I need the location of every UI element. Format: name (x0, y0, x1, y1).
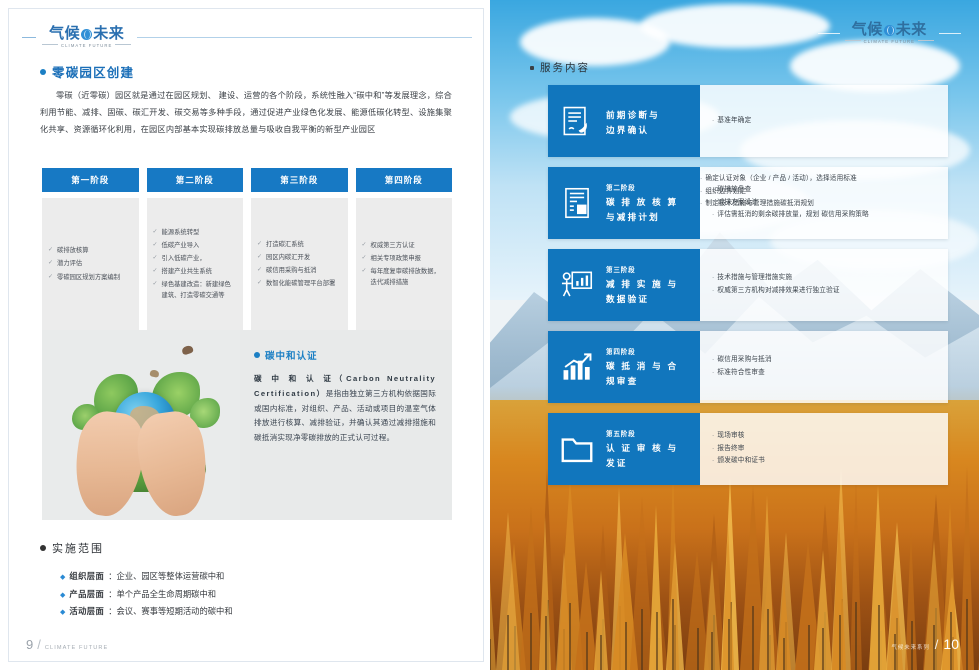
service-card-header: 第二阶段 碳 排 放 核 算 与减排计划 (548, 167, 700, 239)
stage-column: 第三阶段 ✓打造碳汇系统 ✓园区内碳汇开发 ✓碳信用采购与抵消 ✓数智化能碳管理… (251, 168, 348, 332)
logo-subtitle: CLIMATE FUTURE (61, 43, 112, 48)
service-card-item: 评估需抵消的剩余碳排放量，规划 碳信用采购策略 (712, 209, 936, 222)
stage-item: ✓低碳产业导入 (153, 240, 238, 251)
tree-trunk (641, 609, 643, 670)
certification-text-box: 碳中和认证 碳 中 和 认 证（Carbon Neutrality Certif… (240, 330, 452, 520)
scope-item-value: ：会议、赛事等短期活动的碳中和 (108, 603, 232, 620)
service-card-titles: 第二阶段 碳 排 放 核 算 与减排计划 (606, 182, 678, 224)
check-icon: ✓ (153, 227, 158, 238)
stage-body: ✓能源系统转型 ✓低碳产业导入 ✓引入低碳产业， ✓搭建产业共生系统 ✓绿色基建… (147, 198, 244, 332)
logo-rule-right (137, 37, 472, 38)
certification-title: 碳中和认证 (254, 348, 436, 362)
stage-item: ✓能源系统转型 (153, 227, 238, 238)
tree-trunk (808, 625, 810, 670)
logo-text-left: 气候 (49, 26, 80, 41)
tree-trunk (569, 603, 571, 670)
cloud-shape (640, 4, 830, 48)
diamond-bullet-icon: ◆ (60, 589, 65, 604)
service-card-overlay-items: 确定认证对象（企业 / 产品 / 活动），选择适用标准 组织边界划定 制定技术措… (700, 173, 948, 211)
globe-icon (81, 29, 92, 40)
stage-item-text: 数智化能碳管理平台部署 (266, 278, 335, 289)
logo-subtitle: CLIMATE FUTURE (864, 39, 915, 44)
service-title-text: 服务内容 (540, 60, 590, 75)
service-card-name-line2: 与减排计划 (606, 210, 678, 225)
scope-title-text: 实施范围 (52, 540, 104, 556)
logo-block: 气候 未来 CLIMATE FUTURE (845, 22, 934, 44)
logo-text-right: 未来 (93, 26, 124, 41)
check-icon: ✓ (48, 258, 53, 269)
stage-item-text: 引入低碳产业， (162, 253, 206, 264)
stage-item: ✓数智化能碳管理平台部署 (257, 278, 342, 289)
service-card-body: 碳排放盘查 减排方案设计 评估需抵消的剩余碳排放量，规划 碳信用采购策略 确定认… (700, 167, 948, 239)
check-icon: ✓ (153, 253, 158, 264)
stage-body: ✓打造碳汇系统 ✓园区内碳汇开发 ✓碳信用采购与抵消 ✓数智化能碳管理平台部署 (251, 198, 348, 332)
tree-trunk (600, 635, 602, 670)
service-card-body: 技术措施与管理措施实施 权威第三方机构对减排效果进行独立验证 (700, 249, 948, 321)
service-card-name-line2: 边界确认 (606, 123, 660, 138)
service-card-item-overlay: 组织边界划定 (700, 186, 948, 199)
service-card-titles: 第四阶段 碳 抵 消 与 合 规审查 (606, 346, 678, 388)
stage-body: ✓碳排放核算 ✓潜力评估 ✓零碳园区规划方案编制 (42, 198, 139, 332)
logo-subtitle-wrap: CLIMATE FUTURE (42, 41, 131, 48)
right-page-footer: 气候未来系列 / 10 (891, 636, 959, 652)
tree-trunk (656, 612, 658, 670)
logo-rule-left (818, 33, 840, 34)
service-card[interactable]: 第五阶段 认 证 审 核 与 发证 现场审核 报告终审 颁发碳中和证书 (548, 413, 948, 485)
left-page-logo: 气候 未来 CLIMATE FUTURE (22, 22, 472, 52)
stage-header: 第一阶段 (42, 168, 139, 192)
logo-text-left: 气候 (852, 22, 883, 37)
document-quill-icon (558, 102, 596, 140)
service-card-stage: 第四阶段 (606, 346, 678, 356)
tree-trunk (697, 628, 699, 670)
tree-trunk (966, 599, 968, 670)
check-icon: ✓ (362, 253, 367, 264)
scope-item-label: 活动层面 (69, 603, 104, 620)
service-card-header: 第四阶段 碳 抵 消 与 合 规审查 (548, 331, 700, 403)
right-page: 气候 未来 CLIMATE FUTURE 服务内容 (490, 0, 979, 670)
service-card-body: 基准年确定 (700, 85, 948, 157)
scope-item-value: ：企业、园区等整体运营碳中和 (108, 568, 224, 585)
tree-trunk (625, 622, 627, 670)
folder-icon (558, 430, 596, 468)
service-card-name-line1: 认 证 审 核 与 (606, 441, 678, 456)
section-title-text: 零碳园区创建 (52, 62, 134, 81)
check-icon: ✓ (362, 266, 367, 288)
service-card-item: 权威第三方机构对减排效果进行独立验证 (712, 285, 936, 298)
service-card-item: 现场审核 (712, 430, 936, 443)
service-card[interactable]: 前期诊断与 边界确认 基准年确定 (548, 85, 948, 157)
service-card-body: 碳信用采购与抵消 标准符合性审查 (700, 331, 948, 403)
page-number: 10 (943, 636, 959, 652)
service-card-stage: 第五阶段 (606, 428, 678, 438)
stage-item-text: 潜力评估 (57, 258, 82, 269)
right-page-logo: 气候 未来 CLIMATE FUTURE (818, 22, 961, 44)
calculator-icon (558, 184, 596, 222)
stage-item-text: 能源系统转型 (162, 227, 200, 238)
stage-item-text: 相关专项政策申报 (371, 253, 421, 264)
stage-item: ✓搭建产业共生系统 (153, 266, 238, 277)
footer-brand: CLIMATE FUTURE (45, 645, 108, 651)
check-icon: ✓ (257, 239, 262, 250)
check-icon: ✓ (153, 279, 158, 301)
service-card-name-line1: 减 排 实 施 与 (606, 277, 678, 292)
service-card[interactable]: 第二阶段 碳 排 放 核 算 与减排计划 碳排放盘查 减排方案设计 评估需抵消的… (548, 167, 948, 239)
service-card-item: 技术措施与管理措施实施 (712, 272, 936, 285)
footer-brand: 气候未来系列 (891, 643, 929, 651)
scope-item: ◆ 产品层面 ：单个产品全生命周期碳中和 (60, 586, 440, 604)
service-card[interactable]: 第四阶段 碳 抵 消 与 合 规审查 碳信用采购与抵消 标准符合性审查 (548, 331, 948, 403)
stage-header: 第四阶段 (356, 168, 453, 192)
service-card-name-line1: 碳 排 放 核 算 (606, 195, 678, 210)
diamond-bullet-icon: ◆ (60, 571, 65, 586)
stage-item-text: 搭建产业共生系统 (162, 266, 212, 277)
scope-title: 实施范围 (40, 540, 104, 556)
bullet-dot-icon (254, 352, 260, 358)
bullet-dot-icon (40, 69, 46, 75)
service-card-titles: 第五阶段 认 证 审 核 与 发证 (606, 428, 678, 470)
tree-trunk (878, 605, 880, 670)
service-card-name-line2: 数据验证 (606, 292, 678, 307)
service-card-name-line2: 规审查 (606, 374, 678, 389)
stage-table: 第一阶段 ✓碳排放核算 ✓潜力评估 ✓零碳园区规划方案编制 第二阶段 ✓能源系统… (42, 168, 452, 332)
service-card-titles: 前期诊断与 边界确认 (606, 105, 660, 137)
check-icon: ✓ (153, 266, 158, 277)
hands-holding-earth-image (42, 330, 240, 520)
service-card-name-line1: 前期诊断与 (606, 108, 660, 123)
service-card-titles: 第三阶段 减 排 实 施 与 数据验证 (606, 264, 678, 306)
service-card-header: 第五阶段 认 证 审 核 与 发证 (548, 413, 700, 485)
logo-sub-rule-left (845, 40, 861, 41)
logo-wordmark: 气候 未来 (852, 22, 927, 37)
stage-item: ✓碳信用采购与抵消 (257, 265, 342, 276)
check-icon: ✓ (257, 278, 262, 289)
tree-trunk (545, 616, 547, 670)
stage-item-text: 低碳产业导入 (162, 240, 200, 251)
stage-column: 第四阶段 ✓权威第三方认证 ✓相关专项政策申报 ✓每年度复审碳排放数据，迭代减排… (356, 168, 453, 332)
stage-item: ✓引入低碳产业， (153, 253, 238, 264)
section-title-zero-carbon-park: 零碳园区创建 (40, 62, 134, 81)
service-card-name-line1: 碳 抵 消 与 合 (606, 359, 678, 374)
stage-item: ✓权威第三方认证 (362, 240, 447, 251)
stage-item: ✓绿色基建改造：新建绿色建筑、打造零碳交通等 (153, 279, 238, 301)
section-title-service-content: 服务内容 (530, 60, 590, 75)
stage-item-text: 权威第三方认证 (371, 240, 415, 251)
stage-item: ✓碳排放核算 (48, 245, 133, 256)
tree-trunk (855, 602, 857, 670)
certification-block: 碳中和认证 碳 中 和 认 证（Carbon Neutrality Certif… (42, 330, 452, 520)
logo-text-right: 未来 (896, 22, 927, 37)
tree-trunk (752, 606, 754, 670)
stage-item: ✓打造碳汇系统 (257, 239, 342, 250)
stage-header: 第三阶段 (251, 168, 348, 192)
stage-item: ✓潜力评估 (48, 258, 133, 269)
scope-list: ◆ 组织层面 ：企业、园区等整体运营碳中和 ◆ 产品层面 ：单个产品全生命周期碳… (60, 568, 440, 621)
stage-item-text: 园区内碳汇开发 (266, 252, 310, 263)
left-page-footer: 9 / CLIMATE FUTURE (26, 637, 108, 652)
bullet-dot-icon (530, 66, 534, 70)
stage-body: ✓权威第三方认证 ✓相关专项政策申报 ✓每年度复审碳排放数据，迭代减排措施 (356, 198, 453, 332)
service-card-item: 基准年确定 (712, 115, 936, 128)
tree-trunk (711, 632, 713, 670)
logo-block: 气候 未来 CLIMATE FUTURE (42, 26, 131, 48)
tree-trunk (586, 632, 588, 670)
scope-item-label: 组织层面 (69, 568, 104, 585)
certification-title-text: 碳中和认证 (265, 348, 318, 362)
service-card-header: 前期诊断与 边界确认 (548, 85, 700, 157)
service-card-stage: 第三阶段 (606, 264, 678, 274)
service-card-item: 报告终审 (712, 443, 936, 456)
tree-trunk (507, 615, 509, 670)
scope-item-value: ：单个产品全生命周期碳中和 (108, 586, 216, 603)
logo-rule-left (22, 37, 36, 38)
logo-sub-rule-left (42, 44, 58, 45)
check-icon: ✓ (257, 252, 262, 263)
stage-item-text: 每年度复审碳排放数据，迭代减排措施 (371, 266, 446, 288)
growth-bar-chart-icon (558, 348, 596, 386)
tree-trunk (783, 638, 785, 670)
brochure-spread: 气候 未来 CLIMATE FUTURE 零碳园区创建 零碳（近零碳）园区就是通… (0, 0, 979, 670)
page-number: 9 (26, 637, 33, 652)
tree-trunk (490, 639, 491, 670)
service-card-item: 标准符合性审查 (712, 367, 936, 380)
stage-item-text: 碳信用采购与抵消 (266, 265, 316, 276)
check-icon: ✓ (153, 240, 158, 251)
check-icon: ✓ (362, 240, 367, 251)
service-card-item-overlay: 制定技术措施与管理措施碳抵消规划 (700, 198, 948, 211)
logo-sub-rule-right (918, 40, 934, 41)
tree-trunk (839, 615, 841, 670)
service-card-item-overlay: 确定认证对象（企业 / 产品 / 活动），选择适用标准 (700, 173, 948, 186)
service-card-item: 颁发碳中和证书 (712, 455, 936, 468)
service-card-item: 碳信用采购与抵消 (712, 354, 936, 367)
service-card-body: 现场审核 报告终审 颁发碳中和证书 (700, 413, 948, 485)
left-page: 气候 未来 CLIMATE FUTURE 零碳园区创建 零碳（近零碳）园区就是通… (0, 0, 490, 670)
check-icon: ✓ (257, 265, 262, 276)
stage-item-text: 零碳园区规划方案编制 (57, 272, 120, 283)
service-card-header: 第三阶段 减 排 实 施 与 数据验证 (548, 249, 700, 321)
bullet-dot-icon (40, 545, 46, 551)
intro-paragraph: 零碳（近零碳）园区就是通过在园区规划、 建设、运营的各个阶段，系统性融入“碳中和… (40, 88, 452, 138)
certification-body: 碳 中 和 认 证（Carbon Neutrality Certificatio… (254, 372, 436, 446)
footer-slash: / (37, 637, 41, 652)
stage-item-text: 碳排放核算 (57, 245, 88, 256)
tree-trunk (728, 619, 730, 670)
logo-wordmark: 气候 未来 (49, 26, 124, 41)
scope-item-label: 产品层面 (69, 586, 104, 603)
footer-slash: / (935, 637, 939, 652)
stage-item: ✓园区内碳汇开发 (257, 252, 342, 263)
logo-rule-right (939, 33, 961, 34)
stage-item-text: 绿色基建改造：新建绿色建筑、打造零碳交通等 (162, 279, 237, 301)
stage-item-text: 打造碳汇系统 (266, 239, 304, 250)
presentation-chart-person-icon (558, 266, 596, 304)
tree-trunk (530, 613, 532, 670)
check-icon: ✓ (48, 272, 53, 283)
globe-icon (884, 25, 895, 36)
service-card-list: 前期诊断与 边界确认 基准年确定 (548, 85, 948, 485)
service-card-name-line2: 发证 (606, 456, 678, 471)
stage-header: 第二阶段 (147, 168, 244, 192)
service-card-stage: 第二阶段 (606, 182, 678, 192)
scope-item: ◆ 活动层面 ：会议、赛事等短期活动的碳中和 (60, 603, 440, 621)
stage-column: 第一阶段 ✓碳排放核算 ✓潜力评估 ✓零碳园区规划方案编制 (42, 168, 139, 332)
stage-column: 第二阶段 ✓能源系统转型 ✓低碳产业导入 ✓引入低碳产业， ✓搭建产业共生系统 … (147, 168, 244, 332)
tree-trunk (672, 599, 674, 670)
scope-item: ◆ 组织层面 ：企业、园区等整体运营碳中和 (60, 568, 440, 586)
logo-subtitle-wrap: CLIMATE FUTURE (845, 37, 934, 44)
check-icon: ✓ (48, 245, 53, 256)
stage-item: ✓零碳园区规划方案编制 (48, 272, 133, 283)
diamond-bullet-icon: ◆ (60, 606, 65, 621)
logo-sub-rule-right (115, 44, 131, 45)
stage-item: ✓相关专项政策申报 (362, 253, 447, 264)
tree-trunk (767, 609, 769, 670)
stage-item: ✓每年度复审碳排放数据，迭代减排措施 (362, 266, 447, 288)
service-card[interactable]: 第三阶段 减 排 实 施 与 数据验证 技术措施与管理措施实施 权威第三方机构对… (548, 249, 948, 321)
tree-trunk (822, 628, 824, 670)
